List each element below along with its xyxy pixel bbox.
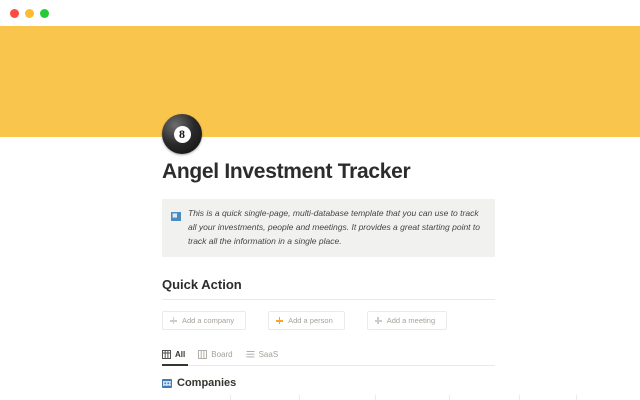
add-person-button[interactable]: Add a person: [268, 311, 345, 330]
window-titlebar: [0, 0, 640, 26]
plus-icon: [276, 317, 283, 324]
tab-saas[interactable]: SaaS: [246, 350, 279, 361]
office-building-icon: [162, 379, 172, 388]
quick-action-heading: Quick Action: [162, 277, 640, 292]
add-person-label: Add a person: [288, 316, 333, 325]
column-header-people[interactable]: ↗ People: [376, 395, 450, 400]
tab-saas-label: SaaS: [259, 350, 279, 359]
callout-text: This is a quick single-page, multi-datab…: [188, 207, 485, 248]
page-cover[interactable]: [0, 26, 640, 137]
column-header-name[interactable]: Aa Name: [162, 395, 231, 400]
add-meeting-label: Add a meeting: [387, 316, 435, 325]
board-view-icon: [198, 350, 207, 359]
companies-table: Aa Name Website URL Σ IRR ↗: [162, 395, 640, 400]
database-title[interactable]: Companies: [162, 377, 640, 389]
column-header-share-price[interactable]: # Share pric: [577, 395, 640, 400]
list-view-icon: [246, 350, 255, 359]
eight-ball-icon[interactable]: 8: [162, 114, 202, 154]
add-meeting-button[interactable]: Add a meeting: [367, 311, 447, 330]
column-header-investment[interactable]: # Investment: [450, 395, 521, 400]
zoom-button[interactable]: [40, 9, 49, 18]
page-body: 8 Angel Investment Tracker This is a qui…: [0, 137, 640, 400]
tab-all-label: All: [175, 350, 185, 359]
quick-action-buttons: Add a company Add a person Add a meeting: [162, 311, 640, 330]
column-header-website-url[interactable]: Website URL: [231, 395, 300, 400]
tab-board-label: Board: [211, 350, 232, 359]
table-view-icon: [162, 350, 171, 359]
plus-icon: [170, 317, 177, 324]
section-divider: [162, 299, 495, 300]
tab-all[interactable]: All: [162, 350, 185, 361]
tab-board[interactable]: Board: [198, 350, 232, 361]
callout-block: This is a quick single-page, multi-datab…: [162, 199, 495, 257]
table-header-row: Aa Name Website URL Σ IRR ↗: [162, 395, 640, 400]
column-header-date[interactable]: Date: [520, 395, 576, 400]
page-title[interactable]: Angel Investment Tracker: [162, 137, 640, 184]
eight-ball-number: 8: [174, 126, 191, 143]
add-company-label: Add a company: [182, 316, 234, 325]
add-company-button[interactable]: Add a company: [162, 311, 246, 330]
column-header-irr[interactable]: Σ IRR: [300, 395, 376, 400]
minimize-button[interactable]: [25, 9, 34, 18]
blue-book-icon: [171, 208, 181, 226]
view-tab-bar: All Board SaaS: [162, 350, 495, 366]
database-name: Companies: [177, 377, 236, 389]
plus-icon: [375, 317, 382, 324]
close-button[interactable]: [10, 9, 19, 18]
